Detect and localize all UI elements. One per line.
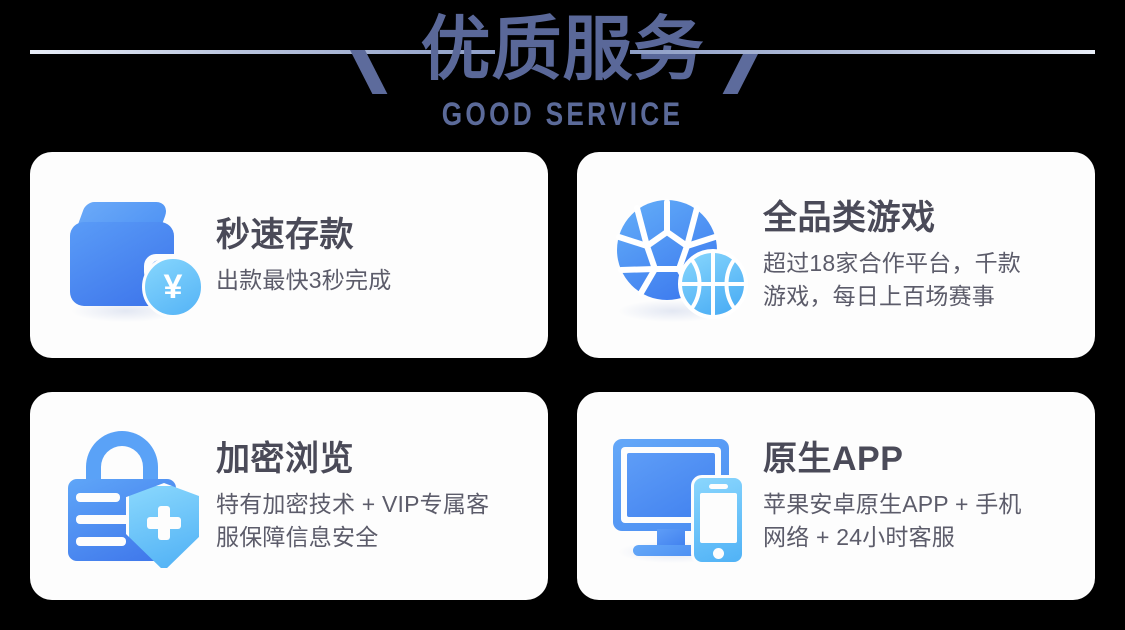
yen-coin-icon: ¥ bbox=[142, 256, 204, 318]
feature-card-title: 加密浏览 bbox=[216, 438, 538, 480]
wallet-yen-icon: ¥ bbox=[56, 180, 208, 330]
feature-card-desc: 超过18家合作平台，千款 游戏，每日上百场赛事 bbox=[763, 247, 1085, 313]
feature-card-desc: 出款最快3秒完成 bbox=[216, 264, 538, 297]
feature-card-text: 全品类游戏 超过18家合作平台，千款 游戏，每日上百场赛事 bbox=[755, 197, 1095, 313]
soccer-basketball-icon bbox=[603, 180, 755, 330]
feature-card-desc: 特有加密技术 + VIP专属客 服保障信息安全 bbox=[216, 488, 538, 554]
monitor-phone-icon bbox=[603, 421, 755, 571]
feature-card-text: 秒速存款 出款最快3秒完成 bbox=[208, 214, 548, 297]
page-title: 优质服务 bbox=[0, 10, 1125, 88]
page-subtitle: GOOD SERVICE bbox=[101, 96, 1024, 132]
lock-shield-icon bbox=[56, 421, 208, 571]
feature-card-title: 秒速存款 bbox=[216, 214, 538, 256]
phone-screen-icon bbox=[700, 493, 737, 543]
feature-card-native-app[interactable]: 原生APP 苹果安卓原生APP + 手机 网络 + 24小时客服 bbox=[577, 392, 1095, 600]
feature-card-games[interactable]: 全品类游戏 超过18家合作平台，千款 游戏，每日上百场赛事 bbox=[577, 152, 1095, 358]
lock-slot-icon bbox=[76, 537, 126, 546]
plus-icon bbox=[147, 506, 181, 540]
feature-card-text: 加密浏览 特有加密技术 + VIP专属客 服保障信息安全 bbox=[208, 438, 548, 554]
feature-card-deposit[interactable]: ¥ 秒速存款 出款最快3秒完成 bbox=[30, 152, 548, 358]
feature-card-title: 原生APP bbox=[763, 438, 1085, 480]
page-header: 优质服务 GOOD SERVICE bbox=[0, 0, 1125, 150]
header-rule-right bbox=[630, 50, 1095, 54]
phone-home-button-icon bbox=[713, 548, 724, 559]
phone-speaker-icon bbox=[709, 484, 728, 489]
feature-card-encryption[interactable]: 加密浏览 特有加密技术 + VIP专属客 服保障信息安全 bbox=[30, 392, 548, 600]
feature-card-desc: 苹果安卓原生APP + 手机 网络 + 24小时客服 bbox=[763, 488, 1085, 554]
feature-card-text: 原生APP 苹果安卓原生APP + 手机 网络 + 24小时客服 bbox=[755, 438, 1095, 554]
ball-group-icon bbox=[609, 192, 749, 322]
feature-card-grid: ¥ 秒速存款 出款最快3秒完成 bbox=[30, 152, 1095, 600]
lock-slot-icon bbox=[76, 493, 120, 502]
feature-card-title: 全品类游戏 bbox=[763, 197, 1085, 239]
